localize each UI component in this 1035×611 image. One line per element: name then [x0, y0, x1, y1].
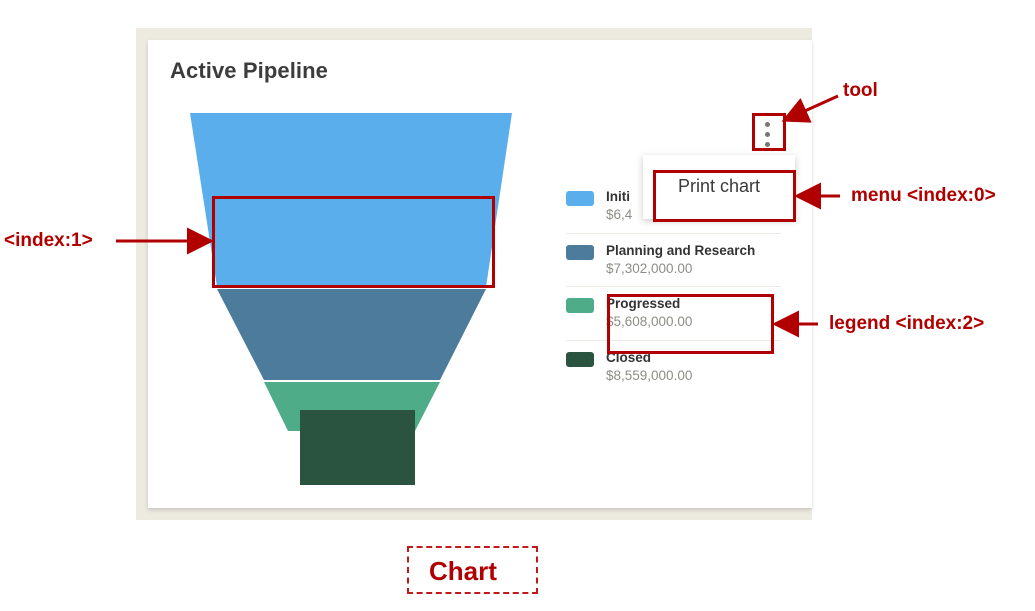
chart-card: Active Pipeline Initi $6,4 Planning and …: [148, 40, 812, 508]
legend-swatch-icon: [566, 191, 594, 206]
legend-swatch-icon: [566, 298, 594, 313]
funnel-segment-closed[interactable]: [300, 410, 415, 485]
legend-label: Closed: [606, 349, 692, 366]
legend-label: Progressed: [606, 295, 692, 312]
legend-value: $8,559,000.00: [606, 367, 692, 384]
annotation-label-legend: legend <index:2>: [829, 313, 984, 335]
funnel-segment-initiated[interactable]: [190, 113, 512, 287]
legend-item-planning-and-research[interactable]: Planning and Research $7,302,000.00: [566, 234, 781, 288]
kebab-dot: [765, 132, 770, 137]
kebab-menu-icon[interactable]: [757, 114, 777, 154]
annotation-label-tool: tool: [843, 80, 878, 102]
legend-swatch-icon: [566, 245, 594, 260]
kebab-dot: [765, 142, 770, 147]
legend-item-closed[interactable]: Closed $8,559,000.00: [566, 341, 781, 394]
menu-item-print-chart[interactable]: Print chart: [643, 166, 795, 208]
legend-label: Initi: [606, 188, 632, 205]
context-menu: Print chart: [643, 155, 795, 219]
legend-value: $5,608,000.00: [606, 313, 692, 330]
legend-value: $7,302,000.00: [606, 260, 755, 277]
legend-label: Planning and Research: [606, 242, 755, 259]
annotation-label-chart: Chart: [429, 556, 497, 587]
annotation-box-chart: [407, 546, 538, 594]
annotation-label-menu: menu <index:0>: [851, 185, 996, 207]
legend-swatch-icon: [566, 352, 594, 367]
kebab-dot: [765, 122, 770, 127]
funnel-segment-planning[interactable]: [217, 289, 486, 380]
legend-value: $6,4: [606, 206, 632, 223]
annotation-label-segment: <index:1>: [4, 230, 93, 252]
legend-item-progressed[interactable]: Progressed $5,608,000.00: [566, 287, 781, 341]
